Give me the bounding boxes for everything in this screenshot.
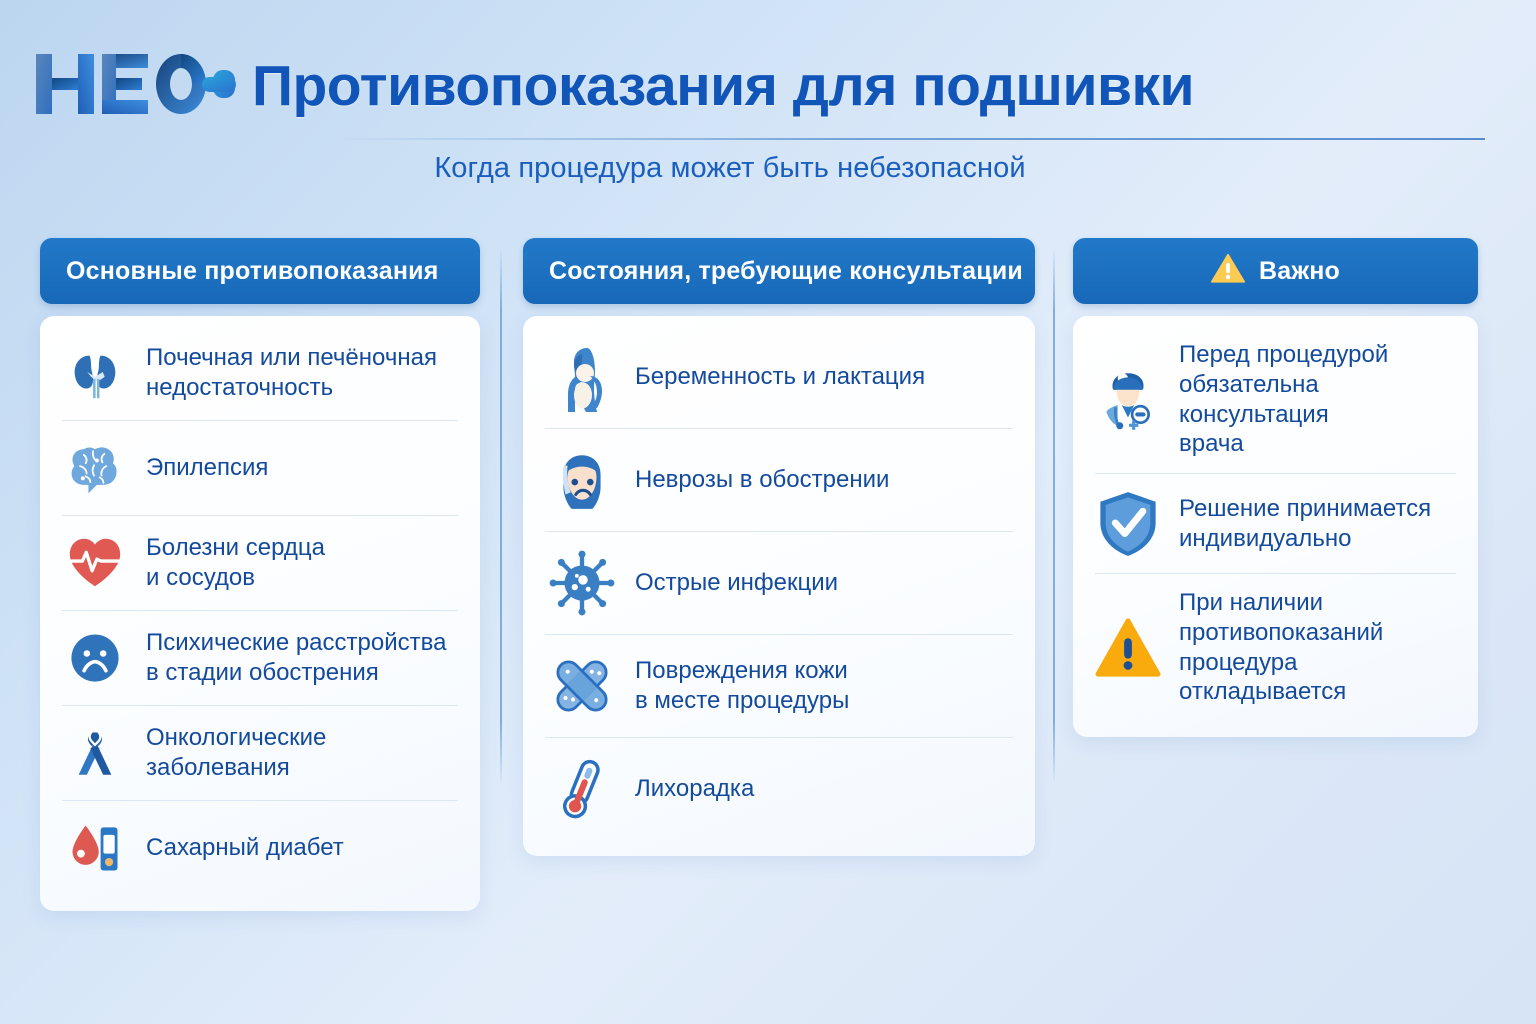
column-header-label: Состояния, требующие консультации <box>549 257 1023 286</box>
pregnant-woman-icon <box>545 340 619 414</box>
list-item-label: Повреждения кожи в месте процедуры <box>635 656 849 716</box>
list-item-label: Решение принимается индивидуально <box>1179 494 1431 554</box>
column-header-label: Важно <box>1259 257 1340 286</box>
anxious-woman-icon <box>545 443 619 517</box>
thermometer-icon <box>545 752 619 826</box>
list-item-label: Неврозы в обострении <box>635 465 889 495</box>
title-row: Противопоказания для подшивки <box>30 48 1194 125</box>
column-important: Важно <box>1073 238 1478 737</box>
list-item[interactable]: Психические расстройства в стадии обостр… <box>62 611 458 706</box>
neo-plus-logo-icon <box>30 48 236 125</box>
list-item-label: Психические расстройства в стадии обостр… <box>146 628 446 688</box>
page-title: Противопоказания для подшивки <box>252 58 1194 115</box>
list-item-label: Перед процедурой обязательна консультаци… <box>1179 340 1456 459</box>
awareness-ribbon-icon <box>62 720 128 786</box>
list-item[interactable]: Лихорадка <box>545 738 1013 840</box>
list-item-label: Лихорадка <box>635 774 754 804</box>
virus-icon <box>545 546 619 620</box>
column-header-requires-consultation: Состояния, требующие консультации <box>523 238 1035 304</box>
list-item-label: При наличии противопоказаний процедура о… <box>1179 588 1456 707</box>
page-subtitle: Когда процедура может быть небезопасной <box>0 152 1460 185</box>
infographic-page: Противопоказания для подшивки Когда проц… <box>0 0 1536 1024</box>
brain-icon <box>62 435 128 501</box>
column-body-main-contraindications: Почечная или печёночная недостаточность <box>40 316 480 911</box>
blood-drop-glucometer-icon <box>62 815 128 881</box>
warning-triangle-icon <box>1211 253 1245 289</box>
list-item[interactable]: Перед процедурой обязательна консультаци… <box>1095 326 1456 474</box>
list-item-label: Сахарный диабет <box>146 833 344 863</box>
column-body-requires-consultation: Беременность и лактация <box>523 316 1035 856</box>
list-item[interactable]: Почечная или печёночная недостаточность <box>62 326 458 421</box>
title-divider-rule <box>345 138 1485 140</box>
list-item-label: Болезни сердца и сосудов <box>146 533 325 593</box>
column-header-main-contraindications: Основные противопоказания <box>40 238 480 304</box>
list-item[interactable]: Острые инфекции <box>545 532 1013 635</box>
list-item-label: Эпилепсия <box>146 453 268 483</box>
list-item[interactable]: При наличии противопоказаний процедура о… <box>1095 574 1456 721</box>
page-header: Противопоказания для подшивки Когда проц… <box>0 0 1536 210</box>
sad-face-icon <box>62 625 128 691</box>
column-header-label: Основные противопоказания <box>66 257 438 286</box>
list-item-label: Острые инфекции <box>635 568 838 598</box>
list-item[interactable]: Неврозы в обострении <box>545 429 1013 532</box>
list-item-label: Почечная или печёночная недостаточность <box>146 343 437 403</box>
column-divider-2 <box>1053 246 1055 786</box>
column-body-important: Перед процедурой обязательна консультаци… <box>1073 316 1478 737</box>
list-item[interactable]: Беременность и лактация <box>545 326 1013 429</box>
list-item[interactable]: Повреждения кожи в месте процедуры <box>545 635 1013 738</box>
columns-container: Основные противопоказания Почечная или п… <box>0 238 1536 938</box>
column-requires-consultation: Состояния, требующие консультации Береме… <box>523 238 1035 856</box>
kidneys-icon <box>62 340 128 406</box>
column-main-contraindications: Основные противопоказания Почечная или п… <box>40 238 480 911</box>
list-item[interactable]: Болезни сердца и сосудов <box>62 516 458 611</box>
bandage-icon <box>545 649 619 723</box>
list-item-label: Онкологические заболевания <box>146 723 458 783</box>
shield-check-icon <box>1095 491 1161 557</box>
list-item[interactable]: Онкологические заболевания <box>62 706 458 801</box>
list-item-label: Беременность и лактация <box>635 362 925 392</box>
column-divider-1 <box>500 246 502 786</box>
list-item[interactable]: Решение принимается индивидуально <box>1095 474 1456 574</box>
doctor-icon <box>1095 367 1161 433</box>
column-header-important: Важно <box>1073 238 1478 304</box>
heart-pulse-icon <box>62 530 128 596</box>
list-item[interactable]: Эпилепсия <box>62 421 458 516</box>
warning-triangle-icon <box>1095 615 1161 681</box>
list-item[interactable]: Сахарный диабет <box>62 801 458 895</box>
